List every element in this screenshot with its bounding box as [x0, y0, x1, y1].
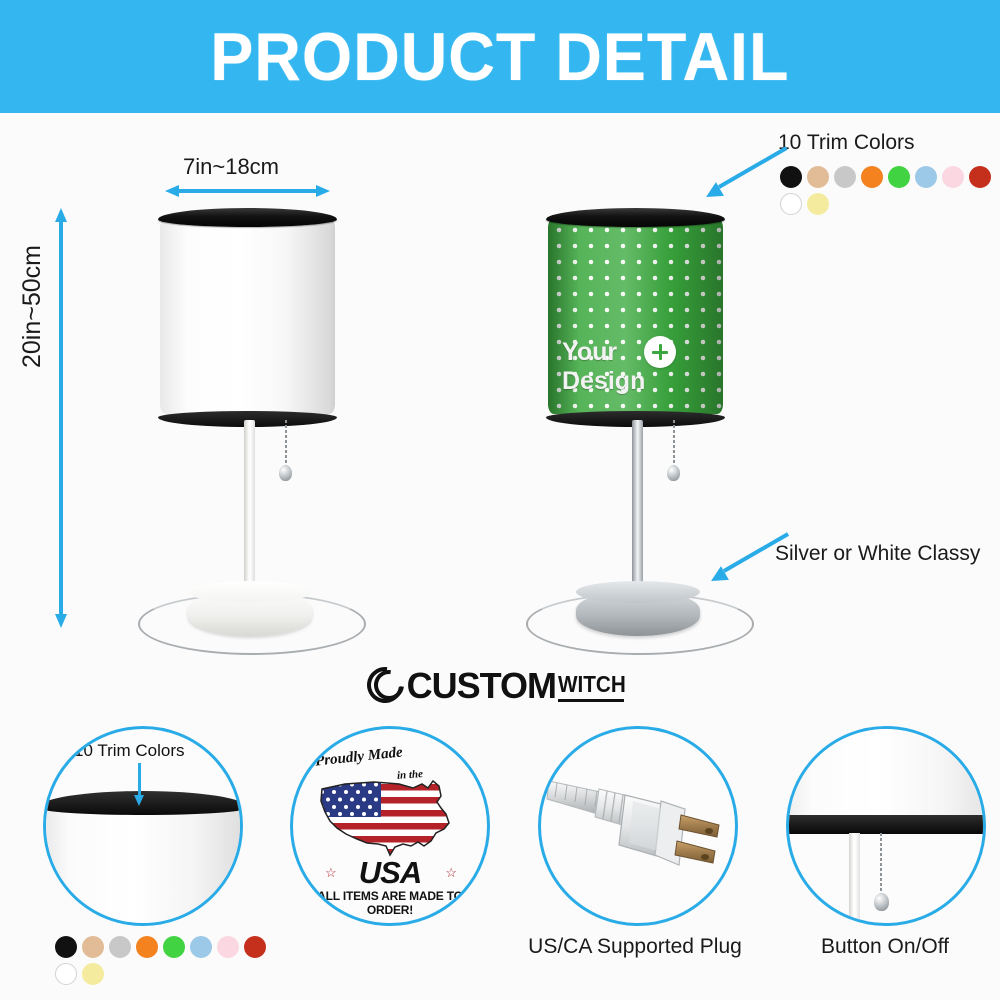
trim-swatch-white[interactable] — [55, 963, 77, 985]
usa-badge: Proudly Made in the — [293, 729, 487, 923]
product-detail-page: PRODUCT DETAIL 20in~50cm 7in~18cm — [0, 0, 1000, 1000]
shade-closeup — [43, 803, 243, 926]
arrow-shaft — [723, 532, 789, 572]
arrow-right-head-icon — [316, 185, 330, 197]
width-dimension-arrow — [165, 185, 330, 197]
lamp-right-custom: Your Design — [548, 208, 728, 638]
shade-surface: Your Design — [548, 218, 723, 414]
feature-switch-caption: Button On/Off — [790, 935, 980, 959]
brand-logo: CUSTOM WITCH — [0, 660, 1000, 712]
usa-badge-line-sub: ALL ITEMS ARE MADE TO ORDER! — [293, 889, 487, 917]
lamp-base — [188, 590, 312, 636]
shade-surface — [160, 218, 335, 414]
shade-trim-top — [158, 208, 337, 227]
usa-badge-line-big: USA — [293, 855, 487, 891]
trim-swatch-green[interactable] — [163, 936, 185, 958]
pull-chain-closeup[interactable] — [880, 833, 882, 895]
lamp-pole — [244, 420, 255, 608]
trim-swatch-pink[interactable] — [942, 166, 964, 188]
trim-swatch-orange[interactable] — [861, 166, 883, 188]
pull-chain-knob[interactable] — [667, 465, 680, 481]
trim-callout-arrow — [705, 161, 795, 207]
trim-swatch-red[interactable] — [969, 166, 991, 188]
plus-circle-icon — [644, 336, 676, 368]
trim-swatch-orange[interactable] — [136, 936, 158, 958]
feature-row: 10 Trim Colors Proudly Made in the — [0, 712, 1000, 1000]
trim-swatch-red[interactable] — [244, 936, 266, 958]
trim-swatch-yellow[interactable] — [807, 193, 829, 215]
feature-plug-caption: US/CA Supported Plug — [505, 935, 765, 959]
base-finish-callout-label: Silver or White Classy — [775, 542, 980, 566]
arrow-head-icon — [134, 795, 144, 806]
pull-chain[interactable] — [673, 420, 675, 468]
height-dimension-arrow — [55, 208, 67, 628]
dimension-line — [59, 218, 63, 618]
design-line-2: Design — [548, 367, 723, 396]
trim-swatch-gray[interactable] — [109, 936, 131, 958]
feature-circle-made-in-usa: Proudly Made in the — [290, 726, 490, 926]
brand-secondary-block: WITCH — [558, 673, 633, 702]
trim-swatch-yellow[interactable] — [82, 963, 104, 985]
width-dimension-label: 7in~18cm — [183, 154, 279, 180]
usa-map-flag-icon — [315, 771, 465, 857]
lamp-shade-blank — [160, 208, 335, 423]
page-header: PRODUCT DETAIL — [0, 0, 1000, 113]
shade-trim-closeup — [786, 815, 986, 834]
trim-colors-callout-title: 10 Trim Colors — [778, 131, 915, 155]
lamp-pole-closeup — [849, 833, 860, 925]
arrow-shaft — [138, 763, 141, 797]
lamp-base-top — [576, 581, 700, 603]
lamp-pole — [632, 420, 643, 608]
feature-circle-switch — [786, 726, 986, 926]
feature-circle-trim-colors: 10 Trim Colors — [43, 726, 243, 926]
arrow-shaft — [718, 146, 788, 188]
feature-trim-colors-label: 10 Trim Colors — [74, 741, 185, 761]
lamp-base — [576, 590, 700, 636]
trim-swatch-tan[interactable] — [82, 936, 104, 958]
brand-underline — [558, 699, 624, 702]
trim-swatch-black[interactable] — [55, 936, 77, 958]
trim-swatch-light-blue[interactable] — [915, 166, 937, 188]
arrow-down-head-icon — [55, 614, 67, 628]
trim-color-swatches — [780, 166, 1000, 215]
lamp-shade-custom: Your Design — [548, 208, 723, 423]
feature-circle-plug — [538, 726, 738, 926]
brand-word-secondary: WITCH — [558, 673, 626, 696]
trim-swatch-tan[interactable] — [807, 166, 829, 188]
trim-swatch-green[interactable] — [888, 166, 910, 188]
height-dimension-label: 20in~50cm — [18, 245, 47, 368]
double-c-icon — [367, 667, 405, 705]
page-title: PRODUCT DETAIL — [210, 18, 789, 96]
pull-chain-knob-closeup[interactable] — [874, 893, 889, 911]
trim-swatch-gray[interactable] — [834, 166, 856, 188]
brand-word-primary: CUSTOM — [407, 668, 556, 704]
usa-star-right-icon: ☆ — [445, 865, 457, 881]
pull-chain[interactable] — [285, 420, 287, 468]
power-plug-icon — [541, 729, 735, 923]
shade-bottom-closeup — [786, 726, 986, 819]
trim-swatch-pink[interactable] — [217, 936, 239, 958]
shade-trim-top — [546, 208, 725, 227]
trim-swatch-light-blue[interactable] — [190, 936, 212, 958]
design-line-1: Your — [548, 338, 723, 367]
product-stage: 20in~50cm 7in~18cm — [0, 113, 1000, 660]
lamp-left-white — [160, 208, 340, 638]
lamp-base-top — [188, 581, 312, 603]
dimension-line — [175, 189, 320, 193]
pull-chain-knob[interactable] — [279, 465, 292, 481]
trim-color-swatches-bottom — [55, 936, 287, 985]
base-finish-callout-arrow — [710, 545, 800, 591]
usa-badge-line-top: Proudly Made — [314, 744, 403, 770]
